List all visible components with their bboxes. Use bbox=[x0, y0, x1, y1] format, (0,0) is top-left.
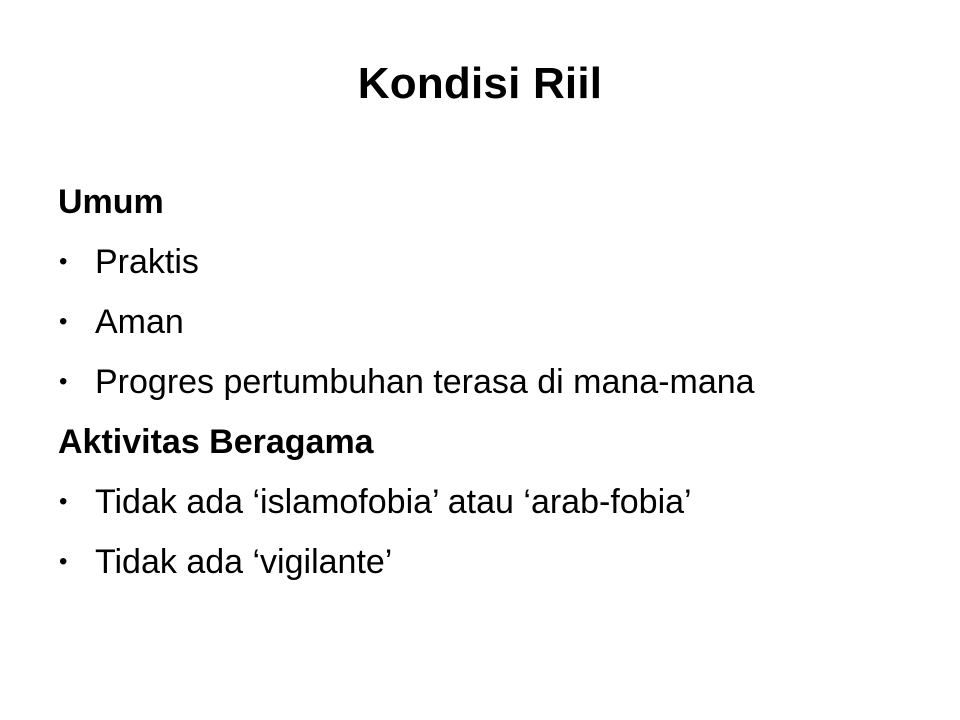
bullet-item-label: Progres pertumbuhan terasa di mana-mana bbox=[95, 363, 755, 401]
bullet-icon: • bbox=[59, 352, 81, 412]
bullet-item-praktis: • Praktis bbox=[58, 232, 918, 292]
bullet-item-vigilante: • Tidak ada ‘vigilante’ bbox=[58, 532, 918, 592]
presentation-slide: Kondisi Riil Umum • Praktis • Aman • Pro… bbox=[0, 0, 960, 720]
bullet-item-islamofobia: • Tidak ada ‘islamofobia’ atau ‘arab-fob… bbox=[58, 472, 918, 532]
bullet-item-label: Tidak ada ‘vigilante’ bbox=[95, 543, 392, 581]
bullet-item-label: Aman bbox=[95, 303, 184, 341]
section-heading-aktivitas-beragama: Aktivitas Beragama bbox=[58, 412, 918, 472]
slide-body-content: Umum • Praktis • Aman • Progres pertumbu… bbox=[58, 172, 918, 592]
bullet-icon: • bbox=[59, 292, 81, 352]
slide-title: Kondisi Riil bbox=[0, 58, 960, 110]
bullet-icon: • bbox=[59, 472, 81, 532]
bullet-icon: • bbox=[59, 232, 81, 292]
bullet-item-aman: • Aman bbox=[58, 292, 918, 352]
bullet-item-label: Tidak ada ‘islamofobia’ atau ‘arab-fobia… bbox=[95, 483, 692, 521]
bullet-item-progres: • Progres pertumbuhan terasa di mana-man… bbox=[58, 352, 918, 412]
section-heading-label: Aktivitas Beragama bbox=[58, 423, 374, 461]
bullet-item-label: Praktis bbox=[95, 243, 199, 281]
bullet-icon: • bbox=[59, 532, 81, 592]
section-heading-umum: Umum bbox=[58, 172, 918, 232]
section-heading-label: Umum bbox=[58, 183, 164, 221]
